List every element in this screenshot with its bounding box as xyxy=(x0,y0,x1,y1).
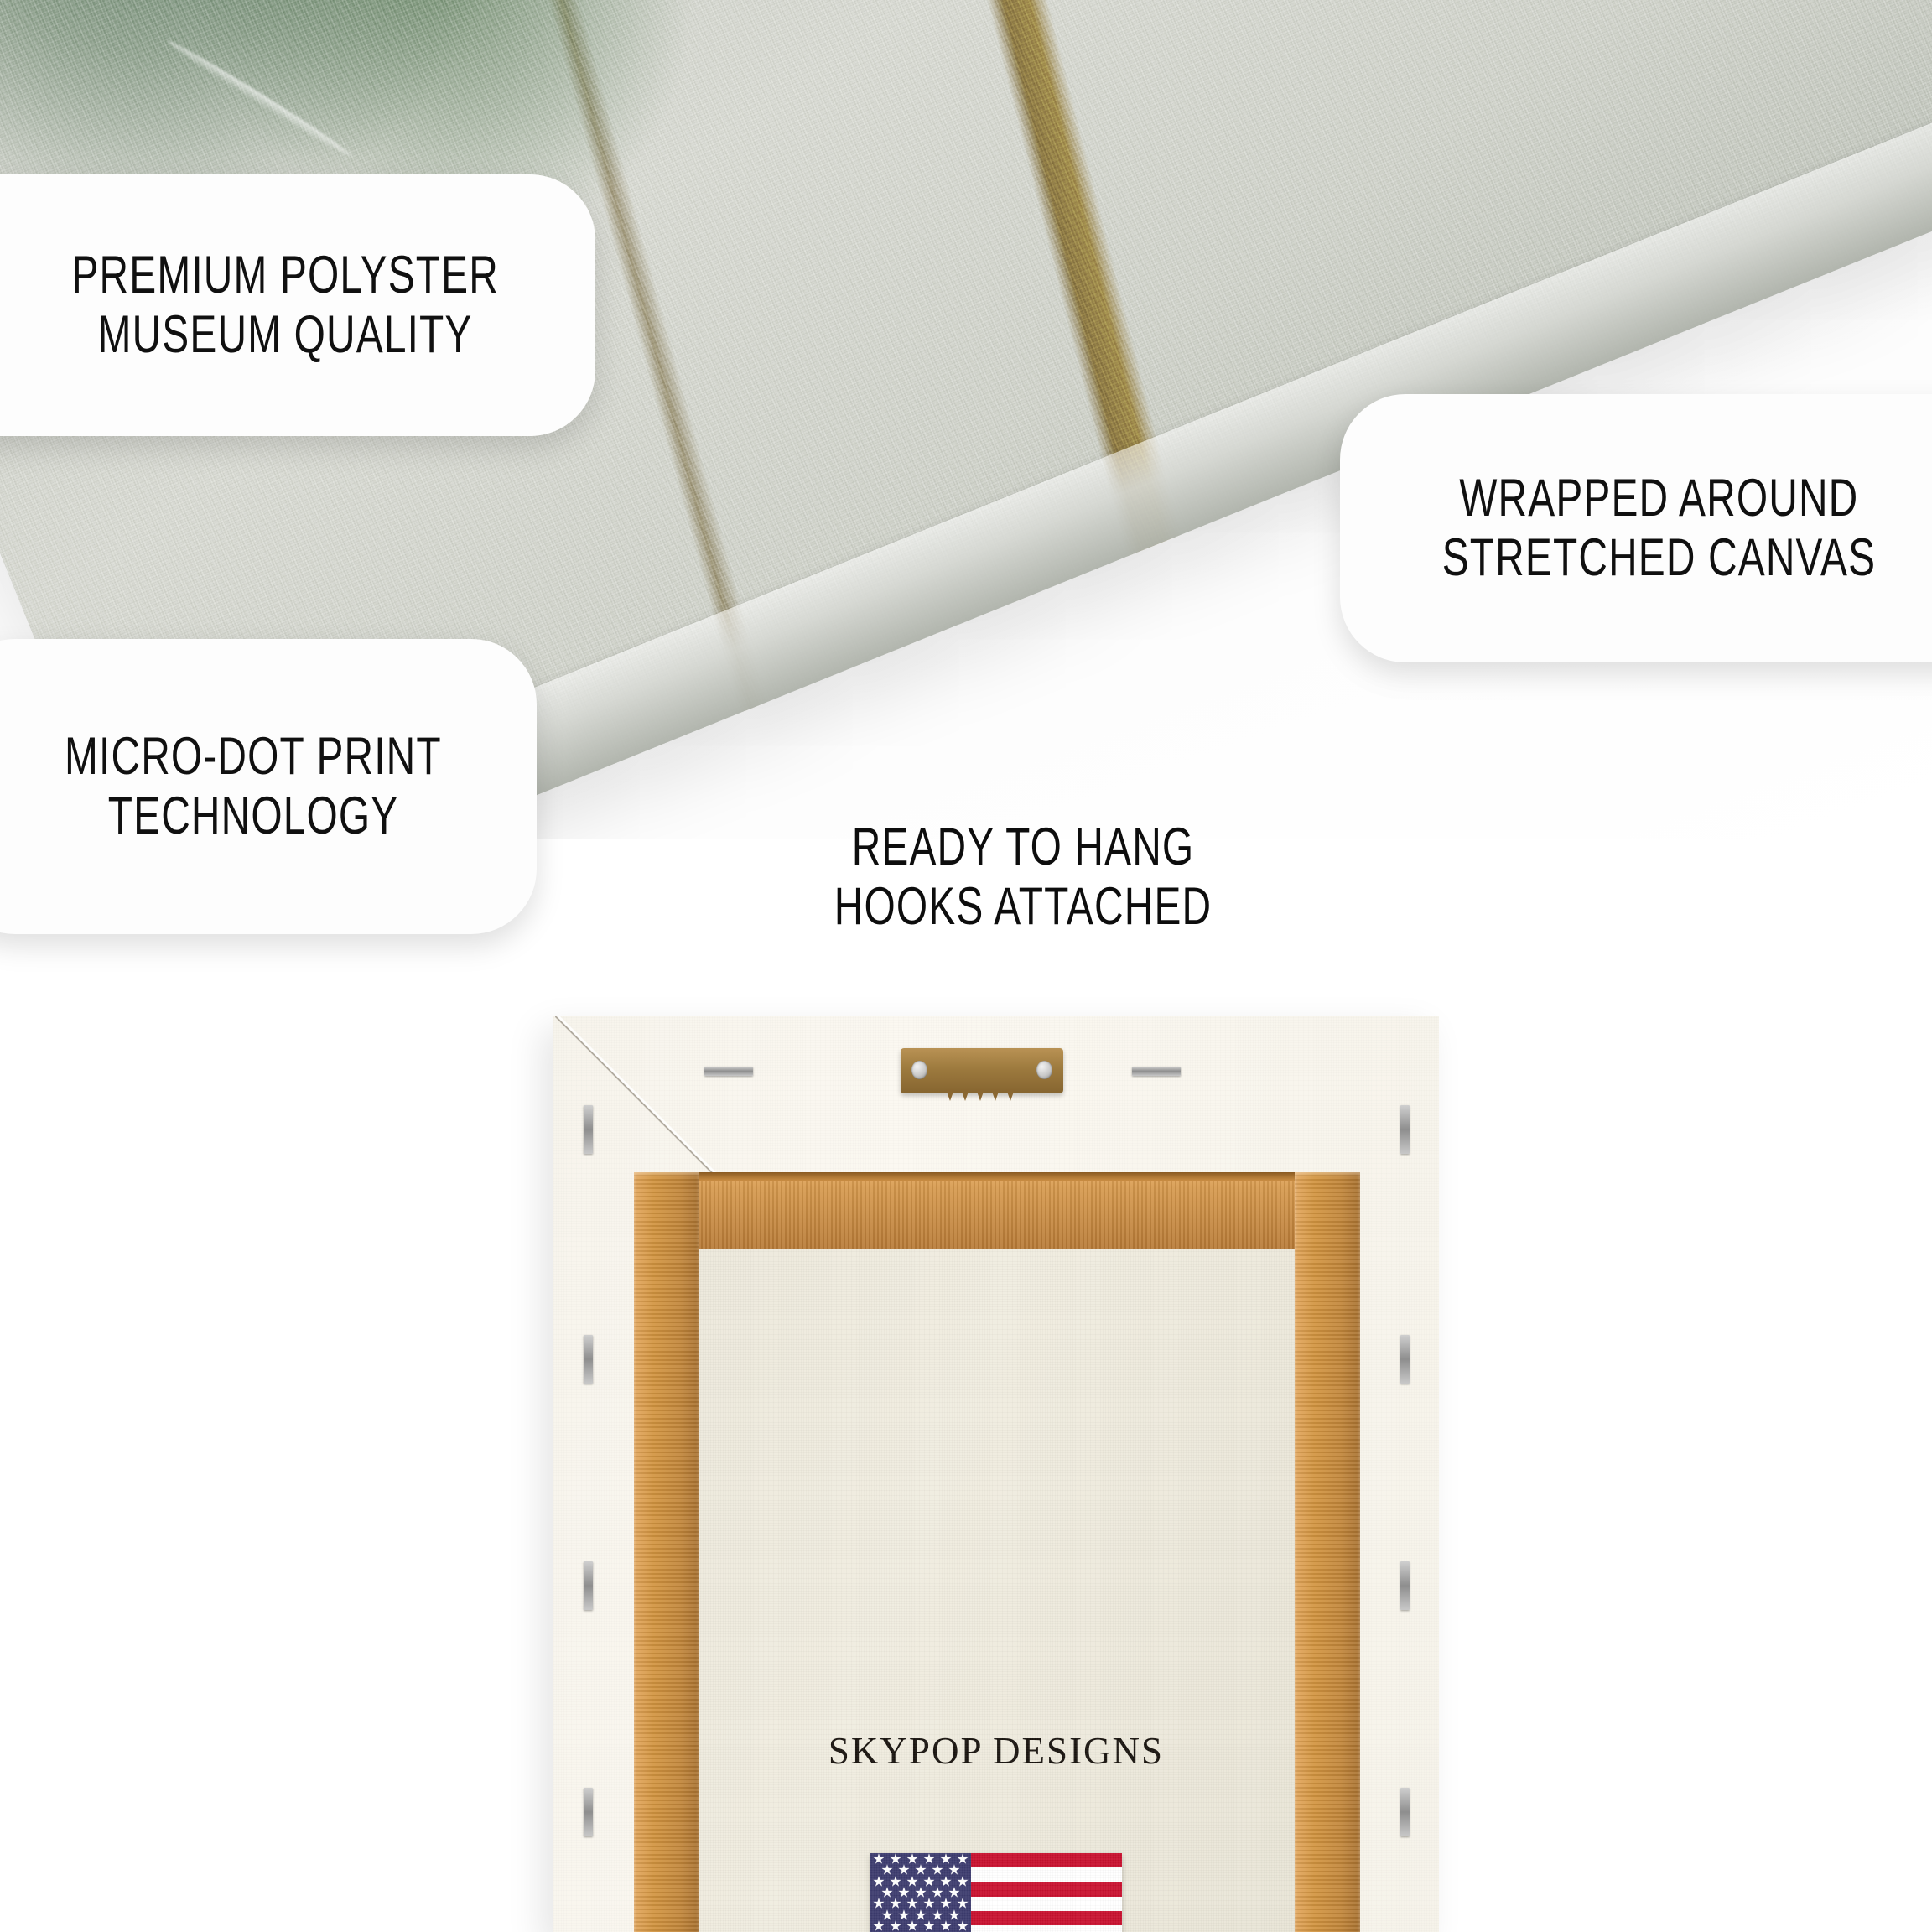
hanger-screw xyxy=(1036,1061,1052,1079)
flag-star: ★ xyxy=(922,1874,935,1888)
feature-label-wrapped-around: WRAPPED AROUND STRETCHED CANVAS xyxy=(1340,394,1932,662)
flag-star: ★ xyxy=(897,1863,910,1877)
flag-star: ★ xyxy=(872,1853,885,1866)
flag-star: ★ xyxy=(914,1863,927,1877)
feature-label-line: TECHNOLOGY xyxy=(108,787,399,846)
hanger-screw xyxy=(911,1061,927,1079)
corner-fold-line xyxy=(555,1016,731,1192)
headline-line: HOOKS ATTACHED xyxy=(653,877,1393,937)
infographic-canvas-product: PREMIUM POLYSTER MUSEUM QUALITY WRAPPED … xyxy=(0,0,1932,1932)
flag-stripe xyxy=(870,1882,1122,1896)
flag-star: ★ xyxy=(914,1885,927,1899)
flag-star: ★ xyxy=(880,1863,893,1877)
feature-label-line: STRETCHED CANVAS xyxy=(1441,528,1876,588)
staple xyxy=(1400,1788,1410,1836)
flag-star: ★ xyxy=(906,1874,918,1888)
staple xyxy=(1400,1335,1410,1384)
flag-star: ★ xyxy=(948,1885,960,1899)
flag-star: ★ xyxy=(906,1897,918,1911)
headline-ready-to-hang: READY TO HANG HOOKS ATTACHED xyxy=(537,818,1509,936)
flag-star: ★ xyxy=(956,1853,969,1866)
brand-name: SKYPOP DESIGNS xyxy=(647,1729,1345,1773)
flag-stripe xyxy=(870,1853,1122,1867)
staple xyxy=(1400,1561,1410,1610)
flag-star: ★ xyxy=(889,1919,901,1932)
flag-star: ★ xyxy=(956,1897,969,1911)
flag-stripe xyxy=(870,1925,1122,1932)
flag-star: ★ xyxy=(889,1853,901,1866)
sawtooth-teeth xyxy=(939,1089,1028,1104)
flag-star: ★ xyxy=(872,1874,885,1888)
flag-star: ★ xyxy=(914,1908,927,1922)
flag-star: ★ xyxy=(939,1853,952,1866)
sawtooth-hanger-icon xyxy=(901,1048,1063,1093)
flag-star: ★ xyxy=(897,1885,910,1899)
flag-star: ★ xyxy=(880,1908,893,1922)
staple xyxy=(584,1788,593,1836)
flag-stripe xyxy=(870,1911,1122,1925)
flag-star: ★ xyxy=(939,1874,952,1888)
staple xyxy=(704,1067,753,1076)
flag-star: ★ xyxy=(956,1919,969,1932)
staple xyxy=(584,1335,593,1384)
flag-star: ★ xyxy=(922,1897,935,1911)
staple xyxy=(1132,1067,1181,1076)
flag-canton: ★★★★★★★★★★★★★★★★★★★★★★★★★★★★★★★★★★★★★★★★… xyxy=(870,1853,971,1932)
flag-star: ★ xyxy=(922,1919,935,1932)
feature-label-line: WRAPPED AROUND xyxy=(1459,469,1858,528)
flag-star: ★ xyxy=(948,1908,960,1922)
canvas-back-view: SKYPOP DESIGNS ★★★★★★★★★★★★★★★★★★★★★★★★★… xyxy=(553,1016,1439,1932)
flag-stripe xyxy=(870,1897,1122,1911)
stretcher-bar-right xyxy=(1295,1172,1360,1932)
staple xyxy=(584,1105,593,1154)
feature-label-line: PREMIUM POLYSTER xyxy=(71,246,499,305)
staple xyxy=(1400,1105,1410,1154)
flag-star: ★ xyxy=(939,1897,952,1911)
flag-star: ★ xyxy=(948,1863,960,1877)
staple xyxy=(584,1561,593,1610)
flag-star: ★ xyxy=(906,1919,918,1932)
flag-star: ★ xyxy=(889,1897,901,1911)
inner-canvas-recess: SKYPOP DESIGNS ★★★★★★★★★★★★★★★★★★★★★★★★★… xyxy=(647,1182,1345,1932)
flag-star: ★ xyxy=(872,1897,885,1911)
feature-label-premium-polyster: PREMIUM POLYSTER MUSEUM QUALITY xyxy=(0,174,595,436)
stretcher-bar-bevel xyxy=(634,1172,1360,1181)
feature-label-line: MICRO-DOT PRINT xyxy=(65,727,442,787)
flag-star: ★ xyxy=(922,1853,935,1866)
feature-label-line: MUSEUM QUALITY xyxy=(98,305,473,365)
flag-star: ★ xyxy=(872,1919,885,1932)
flag-star: ★ xyxy=(931,1863,943,1877)
headline-line: READY TO HANG xyxy=(653,818,1393,877)
united-states-flag-icon: ★★★★★★★★★★★★★★★★★★★★★★★★★★★★★★★★★★★★★★★★… xyxy=(870,1853,1122,1932)
flag-star: ★ xyxy=(931,1885,943,1899)
flag-star: ★ xyxy=(897,1908,910,1922)
stretcher-bar-left xyxy=(634,1172,699,1932)
feature-label-micro-dot-print: MICRO-DOT PRINT TECHNOLOGY xyxy=(0,639,537,934)
flag-star: ★ xyxy=(931,1908,943,1922)
flag-stripe xyxy=(870,1867,1122,1882)
flag-star: ★ xyxy=(939,1919,952,1932)
flag-star: ★ xyxy=(906,1853,918,1866)
flag-star: ★ xyxy=(889,1874,901,1888)
flag-star: ★ xyxy=(880,1885,893,1899)
stretcher-bar-top xyxy=(634,1172,1360,1249)
flag-star: ★ xyxy=(956,1874,969,1888)
